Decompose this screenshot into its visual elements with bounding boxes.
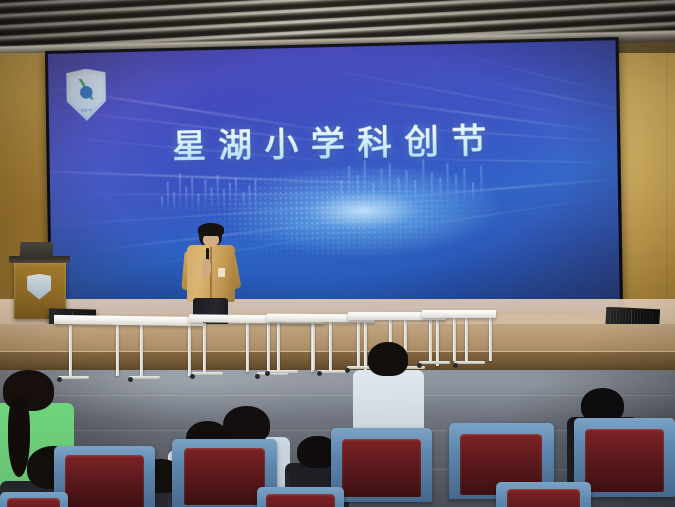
table-caster [345, 368, 350, 373]
table-foot [267, 370, 298, 373]
table-leg [69, 325, 72, 376]
auditorium-seat [54, 446, 155, 507]
table-leg [203, 323, 206, 372]
table-leg [116, 325, 119, 376]
seat-backrest [507, 489, 581, 507]
auditorium-photo: 星湖小学 星湖小学科创节 [0, 0, 675, 507]
table-leg [277, 322, 280, 369]
seat-backrest [342, 439, 421, 498]
seat-backrest [184, 448, 266, 505]
teacher-ponytail [8, 395, 30, 476]
table-leg [489, 318, 492, 362]
table-leg [329, 322, 332, 369]
seat-backrest [585, 429, 664, 492]
seat-backrest [266, 494, 334, 507]
table-leg [140, 325, 143, 376]
table-leg [267, 323, 270, 372]
table-leg [312, 322, 315, 369]
table-leg [188, 325, 191, 376]
table-leg [465, 318, 468, 362]
folding-table [422, 310, 496, 318]
table-leg [364, 322, 367, 369]
auditorium-seat [0, 492, 68, 507]
table-foot [129, 376, 160, 379]
table-leg [436, 320, 439, 366]
table-leg [453, 318, 456, 362]
table-leg [246, 323, 249, 372]
table-foot [192, 372, 223, 375]
table-leg [429, 318, 432, 362]
audience-person-head [368, 342, 409, 375]
table-top [422, 310, 496, 318]
auditorium-seat [496, 482, 591, 507]
table-caster [453, 363, 458, 368]
table-foot [58, 376, 89, 379]
table-caster [57, 377, 62, 382]
seat-backrest [65, 455, 144, 507]
audience-area [0, 0, 675, 507]
seat-backrest [7, 498, 60, 507]
table-caster [255, 374, 260, 379]
table-leg [357, 320, 360, 366]
auditorium-seat [331, 428, 432, 502]
auditorium-seat [257, 487, 345, 507]
